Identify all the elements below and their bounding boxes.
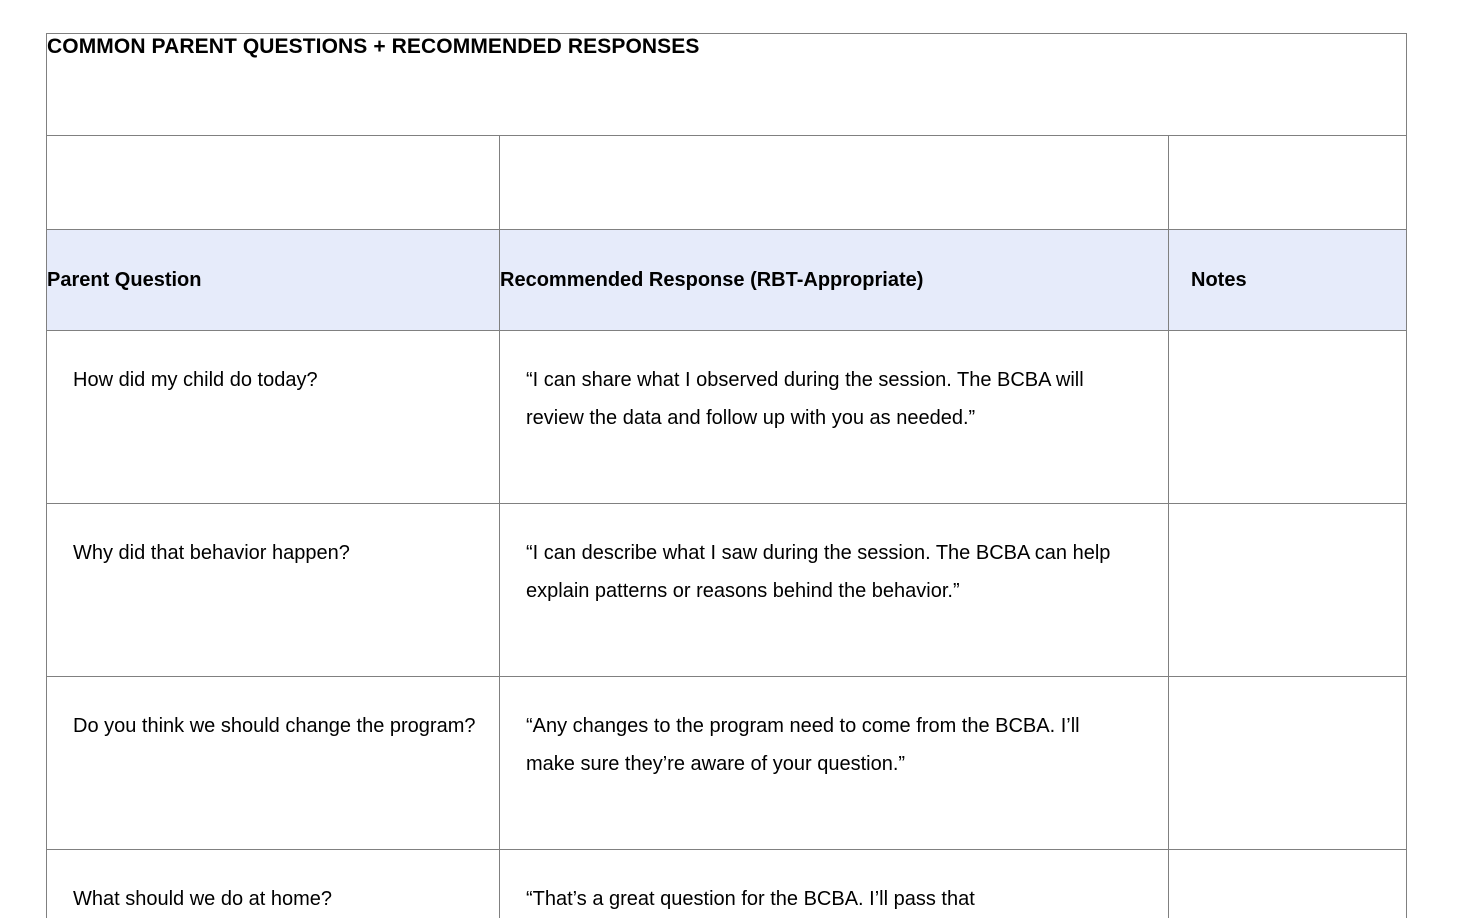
- notes-text: [1195, 534, 1384, 535]
- cell-recommended-response: “That’s a great question for the BCBA. I…: [500, 850, 1169, 918]
- table-row: What should we do at home? “That’s a gre…: [47, 850, 1407, 918]
- spacer-cell-notes: [1169, 136, 1407, 230]
- table-row: How did my child do today? “I can share …: [47, 331, 1407, 504]
- cell-notes: [1169, 331, 1407, 504]
- page-title: COMMON PARENT QUESTIONS + RECOMMENDED RE…: [47, 34, 1406, 59]
- notes-text: [1195, 880, 1384, 881]
- recommended-response-text: “That’s a great question for the BCBA. I…: [526, 880, 1128, 918]
- table-title-row: COMMON PARENT QUESTIONS + RECOMMENDED RE…: [47, 34, 1407, 136]
- column-header-parent-question: Parent Question: [47, 230, 500, 331]
- parent-question-text: How did my child do today?: [73, 361, 485, 399]
- column-header-label-response: Recommended Response (RBT-Appropriate): [500, 268, 1168, 293]
- column-header-recommended-response: Recommended Response (RBT-Appropriate): [500, 230, 1169, 331]
- column-header-label-notes: Notes: [1191, 268, 1406, 293]
- cell-parent-question: What should we do at home?: [47, 850, 500, 918]
- table-row: Do you think we should change the progra…: [47, 677, 1407, 850]
- table-title-cell: COMMON PARENT QUESTIONS + RECOMMENDED RE…: [47, 34, 1407, 136]
- table-row: Why did that behavior happen? “I can des…: [47, 504, 1407, 677]
- recommended-response-text: “Any changes to the program need to come…: [526, 707, 1128, 783]
- table-spacer-row: [47, 136, 1407, 230]
- cell-notes: [1169, 504, 1407, 677]
- cell-parent-question: Do you think we should change the progra…: [47, 677, 500, 850]
- cell-parent-question: How did my child do today?: [47, 331, 500, 504]
- cell-notes: [1169, 677, 1407, 850]
- cell-recommended-response: “I can share what I observed during the …: [500, 331, 1169, 504]
- cell-recommended-response: “I can describe what I saw during the se…: [500, 504, 1169, 677]
- document-page: COMMON PARENT QUESTIONS + RECOMMENDED RE…: [0, 0, 1474, 918]
- notes-text: [1195, 707, 1384, 708]
- cell-recommended-response: “Any changes to the program need to come…: [500, 677, 1169, 850]
- cell-parent-question: Why did that behavior happen?: [47, 504, 500, 677]
- parent-questions-table: COMMON PARENT QUESTIONS + RECOMMENDED RE…: [46, 33, 1407, 918]
- spacer-cell-question: [47, 136, 500, 230]
- parent-question-text: Why did that behavior happen?: [73, 534, 485, 572]
- spacer-text-response: [500, 136, 1168, 137]
- table-header-row: Parent Question Recommended Response (RB…: [47, 230, 1407, 331]
- spacer-text-notes: [1169, 136, 1406, 137]
- parent-question-text: Do you think we should change the progra…: [73, 707, 485, 745]
- spacer-text-question: [47, 136, 499, 137]
- parent-question-text: What should we do at home?: [73, 880, 485, 918]
- spacer-cell-response: [500, 136, 1169, 230]
- cell-notes: [1169, 850, 1407, 918]
- column-header-label-question: Parent Question: [47, 268, 499, 293]
- notes-text: [1195, 361, 1384, 362]
- recommended-response-text: “I can share what I observed during the …: [526, 361, 1128, 437]
- column-header-notes: Notes: [1169, 230, 1407, 331]
- recommended-response-text: “I can describe what I saw during the se…: [526, 534, 1128, 610]
